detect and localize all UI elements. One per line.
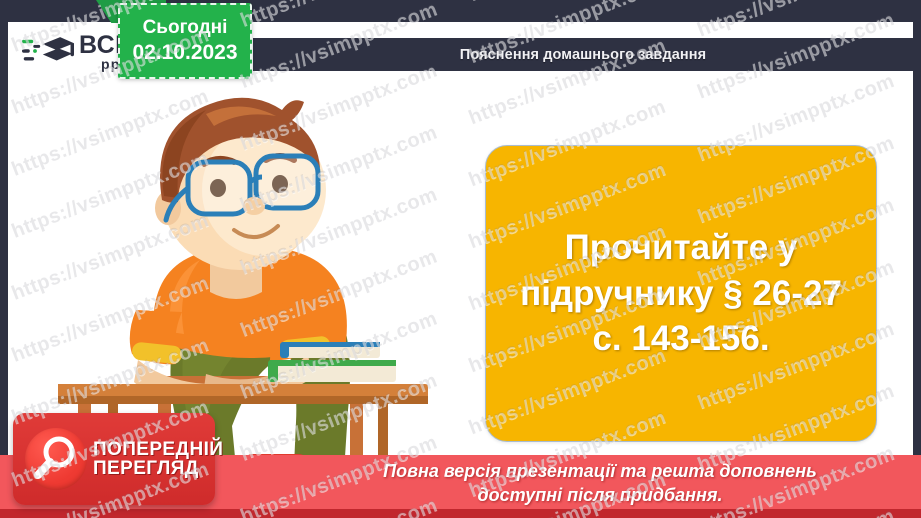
purchase-notice-line1: Повна версія презентації та решта доповн… (290, 459, 910, 483)
slide-title: Пояснення домашнього завдання (460, 47, 706, 63)
date-badge-label: Сьогодні (143, 16, 228, 40)
date-badge-value: 02.10.2023 (132, 40, 237, 66)
preview-badge-line2: ПЕРЕГЛЯД (93, 459, 223, 478)
preview-badge-line1: ПОПЕРЕДНІЙ (93, 440, 223, 459)
callout-text: Прочитайте у підручнику § 26-27 с. 143-1… (486, 225, 876, 362)
preview-badge[interactable]: ПОПЕРЕДНІЙ ПЕРЕГЛЯД (13, 413, 215, 505)
presentation-slide: Прочитайте у підручнику § 26-27 с. 143-1… (0, 0, 921, 518)
graduation-cap-icon (22, 33, 74, 74)
slide-title-bar: Пояснення домашнього завдання (253, 38, 913, 71)
purchase-notice-line2: доступні після придбання. (290, 483, 910, 507)
date-badge: Сьогодні 02.10.2023 (118, 3, 252, 79)
purchase-notice-text: Повна версія презентації та решта доповн… (290, 459, 910, 507)
magnifier-icon (25, 428, 87, 490)
callout-box: Прочитайте у підручнику § 26-27 с. 143-1… (485, 145, 877, 442)
banner-bottom-strip (0, 509, 921, 518)
